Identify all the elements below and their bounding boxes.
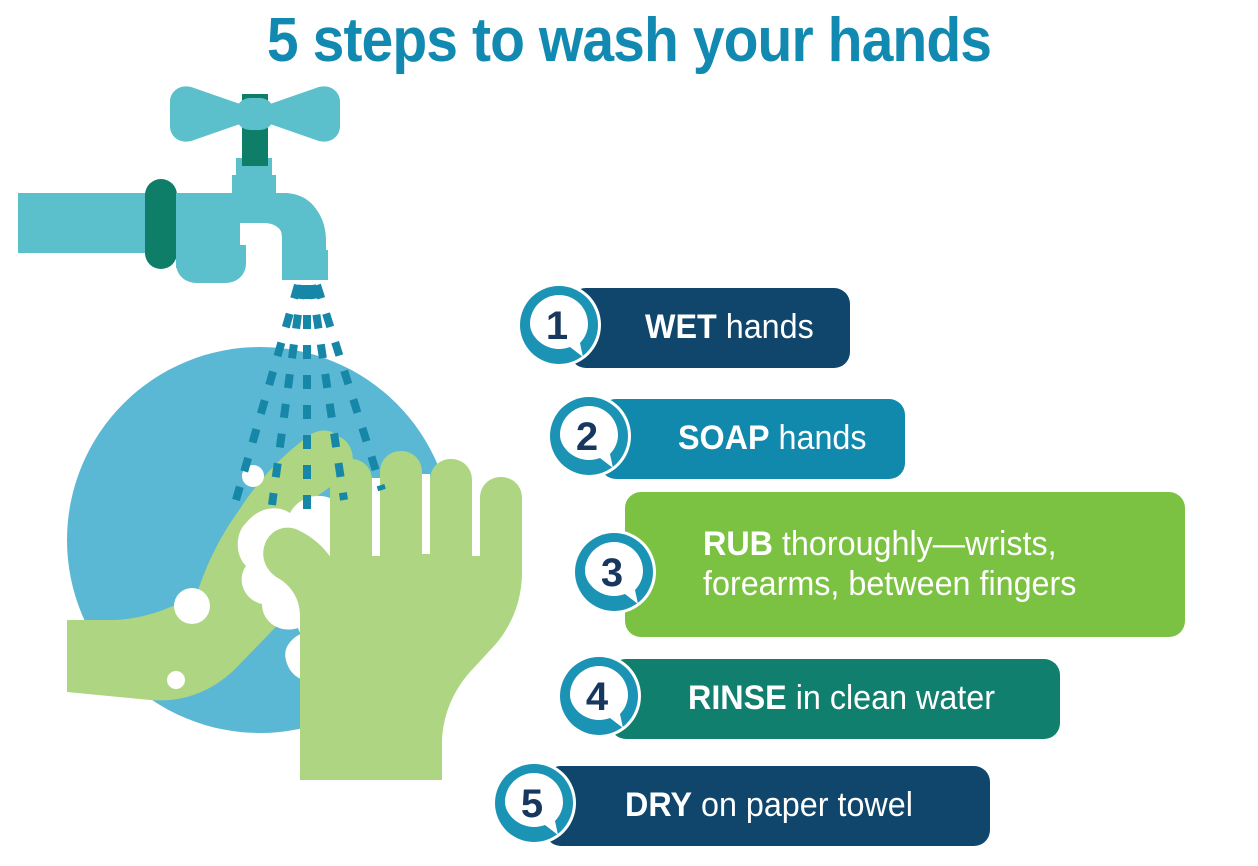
step-bar-5: DRY on paper towel	[545, 766, 990, 846]
badge-number: 1	[546, 304, 568, 348]
badge-number: 5	[521, 782, 543, 826]
step-text-2: SOAP hands	[678, 419, 867, 458]
step-badge-5: 5	[490, 759, 578, 847]
step-keyword: SOAP	[678, 419, 770, 457]
step-rest: thoroughly—wrists,	[773, 525, 1057, 563]
step-keyword: DRY	[625, 786, 692, 824]
step-line-2: forearms, between fingers	[703, 565, 1076, 604]
step-text-5: DRY on paper towel	[625, 786, 913, 825]
step-rest: hands	[770, 419, 867, 457]
badge-number: 3	[601, 551, 623, 595]
step-rest-2: forearms, between fingers	[703, 565, 1076, 603]
step-bar-4: RINSE in clean water	[610, 659, 1060, 739]
step-badge-2: 2	[545, 392, 633, 480]
step-badge-3: 3	[570, 528, 658, 616]
step-line: RUB thoroughly—wrists,	[703, 525, 1076, 564]
step-text-1: WET hands	[645, 308, 814, 347]
step-text-3: RUB thoroughly—wrists, forearms, between…	[703, 525, 1076, 604]
step-line: RINSE in clean water	[688, 679, 995, 718]
step-line: WET hands	[645, 308, 814, 347]
infographic-root: 5 steps to wash your hands	[0, 0, 1258, 866]
step-bar-3: RUB thoroughly—wrists, forearms, between…	[625, 492, 1185, 637]
step-text-4: RINSE in clean water	[688, 679, 995, 718]
step-rest: hands	[717, 308, 814, 346]
step-line: SOAP hands	[678, 419, 867, 458]
badge-number: 4	[586, 675, 609, 719]
step-badge-4: 4	[555, 652, 643, 740]
step-bar-1: WET hands	[570, 288, 850, 368]
step-line: DRY on paper towel	[625, 786, 913, 825]
step-rest: in clean water	[787, 679, 995, 717]
step-keyword: RINSE	[688, 679, 787, 717]
step-keyword: RUB	[703, 525, 773, 563]
badge-number: 2	[576, 415, 598, 459]
step-bar-2: SOAP hands	[600, 399, 905, 479]
steps-list: WET hands 1 SOAP hands	[0, 0, 1258, 866]
step-badge-1: 1	[515, 281, 603, 369]
step-keyword: WET	[645, 308, 717, 346]
step-rest: on paper towel	[692, 786, 913, 824]
